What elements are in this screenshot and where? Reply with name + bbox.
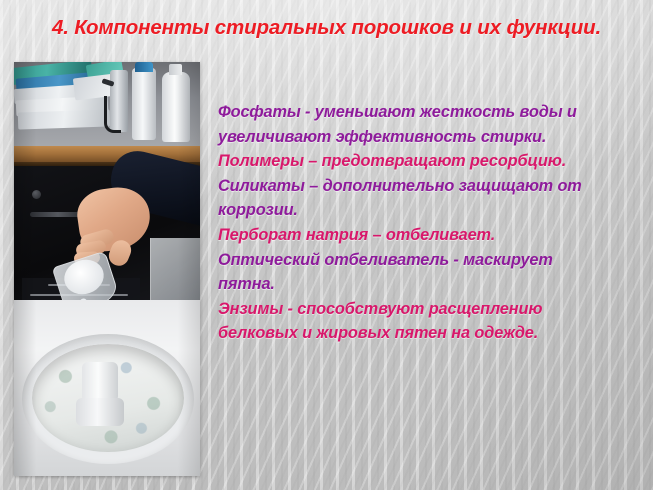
detergent-bottle-white xyxy=(162,72,190,142)
agitator-lower xyxy=(76,398,124,426)
text-line-7: Оптический отбеливатель - маскирует xyxy=(218,248,638,273)
text-line-5: коррозии. xyxy=(218,198,638,223)
text-line-6: Перборат натрия – отбеливает. xyxy=(218,223,638,248)
slide-body-text: Фосфаты - уменьшают жесткость воды и уве… xyxy=(218,100,638,346)
text-line-1: Фосфаты - уменьшают жесткость воды и xyxy=(218,100,638,125)
laundry-detergent-photo xyxy=(14,62,200,476)
folded-towel-white-3 xyxy=(18,109,111,129)
text-line-9: Энзимы - способствуют расщеплению xyxy=(218,297,638,322)
plastic-bag xyxy=(150,238,200,308)
presentation-slide: 4. Компоненты стиральных порошков и их ф… xyxy=(0,0,653,490)
text-line-8: пятна. xyxy=(218,272,638,297)
text-line-4: Силикаты – дополнительно защищают от xyxy=(218,174,638,199)
agitator-upper xyxy=(82,362,118,402)
hose-cord xyxy=(104,96,121,133)
text-line-2: увеличивают эффективность стирки. xyxy=(218,125,638,150)
detergent-bottle-blue-cap xyxy=(132,68,156,140)
slide-title: 4. Компоненты стиральных порошков и их ф… xyxy=(0,16,653,40)
text-line-3: Полимеры – предотвращают ресорбцию. xyxy=(218,149,638,174)
text-line-10: белковых и жировых пятен на одежде. xyxy=(218,321,638,346)
washer-knob xyxy=(32,190,41,199)
